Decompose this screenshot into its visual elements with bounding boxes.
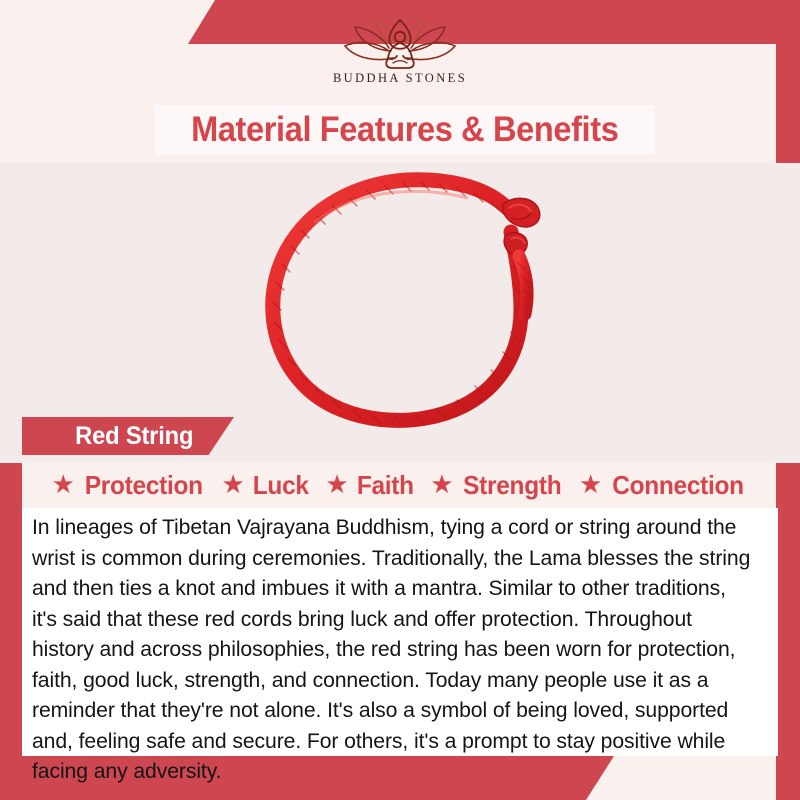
benefit-item-luck: ★ Luck (222, 470, 311, 501)
benefit-label: Connection (613, 470, 745, 501)
benefit-item-strength: ★ Strength (430, 470, 564, 501)
benefit-label: Luck (253, 470, 309, 501)
star-icon: ★ (222, 471, 245, 497)
page-title: Material Features & Benefits (191, 110, 618, 150)
benefit-item-faith: ★ Faith (325, 470, 415, 501)
brand-logo: BUDDHA STONES (0, 44, 800, 102)
product-info-poster: BUDDHA STONES Material Features & Benefi… (0, 0, 800, 800)
star-icon: ★ (430, 471, 453, 497)
description-text: In lineages of Tibetan Vajrayana Buddhis… (32, 512, 751, 787)
benefit-label: Faith (356, 470, 413, 501)
benefits-list: ★ Protection ★ Luck ★ Faith ★ Strength ★… (22, 465, 778, 505)
red-braided-string-bracelet-image (255, 170, 565, 435)
brand-name: BUDDHA STONES (333, 71, 467, 86)
star-icon: ★ (579, 471, 602, 497)
benefit-item-connection: ★ Connection (579, 470, 748, 501)
benefit-label: Protection (85, 470, 203, 501)
benefit-label: Strength (463, 470, 561, 501)
star-icon: ★ (52, 471, 75, 497)
benefit-item-protection: ★ Protection (52, 470, 207, 501)
description-panel: In lineages of Tibetan Vajrayana Buddhis… (22, 508, 778, 756)
lotus-meditation-figure-icon (331, 18, 469, 70)
product-label: Red String (75, 422, 193, 451)
product-label-ribbon: Red String (22, 417, 234, 455)
title-banner: Material Features & Benefits (155, 105, 655, 155)
star-icon: ★ (325, 471, 348, 497)
